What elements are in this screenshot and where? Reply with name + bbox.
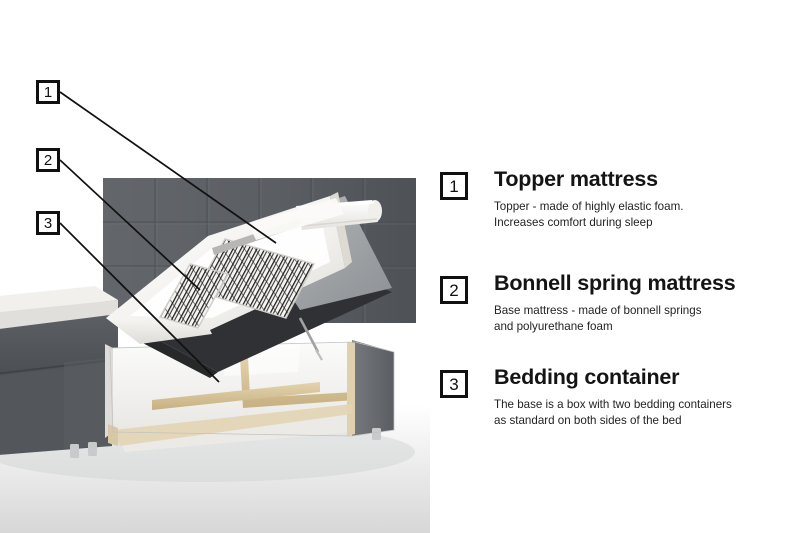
legend-item-bedding-container: 3 Bedding container The base is a box wi… [438, 366, 800, 430]
legend-title-2: Bonnell spring mattress [494, 272, 800, 296]
legend-item-bonnell-spring-mattress: 2 Bonnell spring mattress Base mattress … [438, 272, 800, 336]
callout-number-2: 2 [36, 148, 60, 172]
legend-badge-1: 1 [440, 172, 468, 200]
callout-number-3: 3 [36, 211, 60, 235]
boxspring-bed-illustration: 1 2 3 [0, 0, 430, 533]
product-feature-diagram: 1 2 3 1 Topper mattress Topper - made of… [0, 0, 800, 533]
legend-title-3: Bedding container [494, 366, 800, 390]
legend-text-block: Topper mattress Topper - made of highly … [494, 168, 800, 232]
legend-item-topper-mattress: 1 Topper mattress Topper - made of highl… [438, 168, 800, 232]
legend-text-block: Bonnell spring mattress Base mattress - … [494, 272, 800, 336]
legend-description-3: The base is a box with two bedding conta… [494, 397, 800, 431]
legend-description-1: Topper - made of highly elastic foam. In… [494, 199, 800, 233]
feature-legend: 1 Topper mattress Topper - made of highl… [438, 0, 800, 533]
callout-number-1: 1 [36, 80, 60, 104]
legend-badge-2: 2 [440, 276, 468, 304]
legend-text-block: Bedding container The base is a box with… [494, 366, 800, 430]
legend-description-2: Base mattress - made of bonnell springs … [494, 303, 800, 337]
bed-left-section [0, 286, 118, 458]
legend-badge-3: 3 [440, 370, 468, 398]
legend-title-1: Topper mattress [494, 168, 800, 192]
